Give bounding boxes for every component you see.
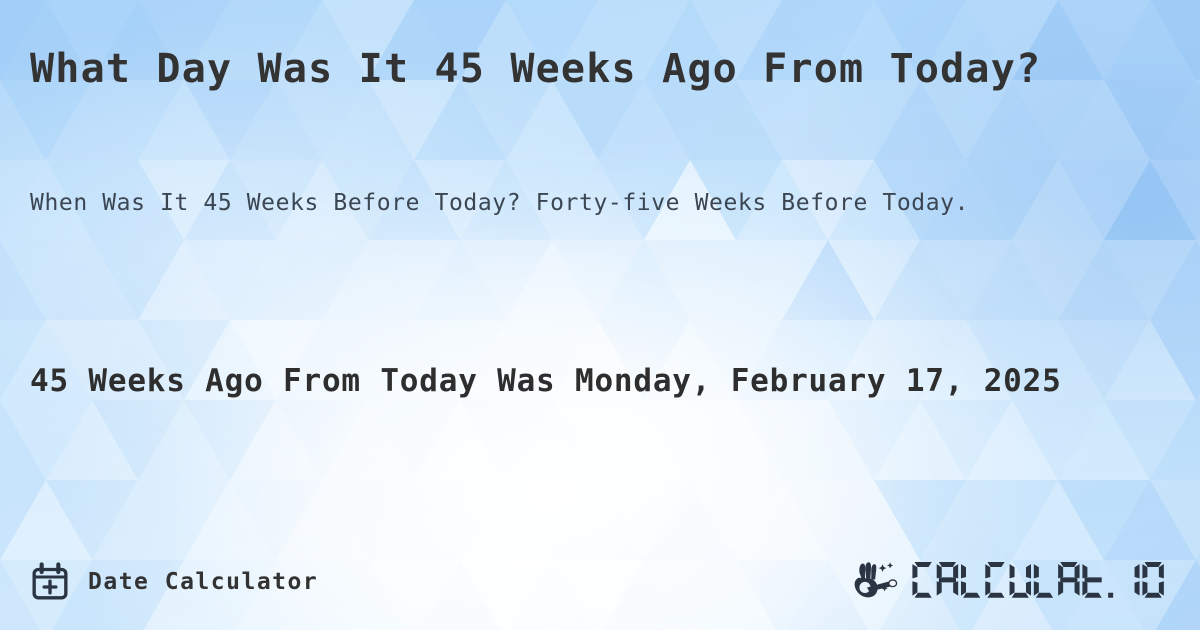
- footer-bar: Date Calculator: [0, 556, 1200, 608]
- calendar-plus-icon: [30, 562, 70, 602]
- page-subtitle: When Was It 45 Weeks Before Today? Forty…: [30, 185, 1150, 222]
- site-logo-wordmark: CALCULAT.IO: [911, 562, 1170, 602]
- result-answer-text: 45 Weeks Ago From Today Was Monday, Febr…: [30, 357, 1150, 405]
- page-title: What Day Was It 45 Weeks Ago From Today?: [30, 44, 1080, 94]
- site-logo[interactable]: CALCULAT.IO: [851, 561, 1170, 603]
- magic-wand-hand-icon: [851, 561, 905, 603]
- date-calculator-link[interactable]: Date Calculator: [30, 562, 318, 602]
- date-calculator-label: Date Calculator: [88, 569, 318, 595]
- page-content: What Day Was It 45 Weeks Ago From Today?…: [0, 0, 1200, 630]
